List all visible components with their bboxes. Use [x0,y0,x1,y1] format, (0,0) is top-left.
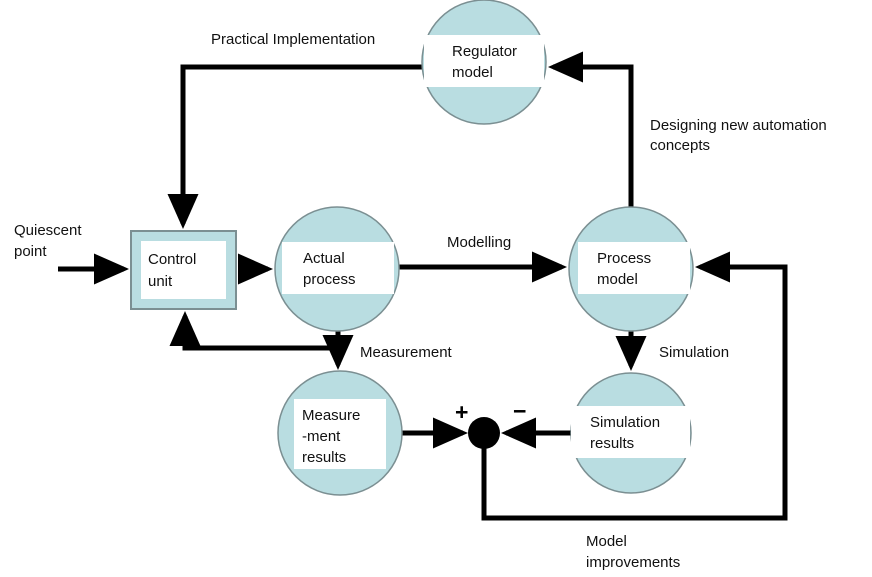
node-summing-junction[interactable] [468,417,500,449]
measurement-results-label-line-1: Measure [302,407,360,424]
node-simulation-results[interactable]: Simulation results [571,373,691,493]
regulator-model-label-line-2: model [452,64,493,81]
control-unit-label-line-1: Control [148,251,196,268]
actual-process-label-line-2: process [303,271,356,288]
node-actual-process[interactable]: Actual process [275,207,399,331]
summing-junction-dot [468,417,500,449]
label-modelling: Modelling [447,234,511,251]
label-quiescent-point-line-2: point [14,243,47,260]
node-regulator-model[interactable]: Regulator model [422,0,546,124]
minus-sign: − [513,398,526,424]
process-model-label-line-1: Process [597,250,651,267]
label-designing-new-automation-concepts-line-1: Designing new automation [650,117,827,134]
actual-process-label-line-1: Actual [303,250,345,267]
edge-process-model-to-regulator [553,67,631,207]
label-quiescent-point-line-1: Quiescent [14,222,82,239]
label-model-improvements-line-2: improvements [586,554,680,571]
control-unit-label-line-2: unit [148,273,173,290]
simulation-results-label-line-2: results [590,435,634,452]
node-control-unit[interactable]: Control unit [131,231,236,309]
label-simulation: Simulation [659,344,729,361]
control-loop-diagram: Regulator model Control unit Actual proc… [0,0,872,577]
measurement-results-label-line-3: results [302,449,346,466]
plus-sign: + [455,399,468,425]
label-model-improvements-line-1: Model [586,533,627,550]
edge-regulator-to-control [183,67,422,224]
simulation-results-label-line-1: Simulation [590,414,660,431]
control-unit-label-box [141,241,226,299]
label-practical-implementation: Practical Implementation [211,31,375,48]
process-model-label-line-2: model [597,271,638,288]
measurement-results-label-line-2: -ment [302,428,341,445]
label-designing-new-automation-concepts-line-2: concepts [650,137,710,154]
node-process-model[interactable]: Process model [569,207,693,331]
regulator-model-label-line-1: Regulator [452,43,517,60]
node-measurement-results[interactable]: Measure -ment results [278,371,402,495]
label-measurement: Measurement [360,344,453,361]
diagram-canvas: Regulator model Control unit Actual proc… [0,0,872,577]
